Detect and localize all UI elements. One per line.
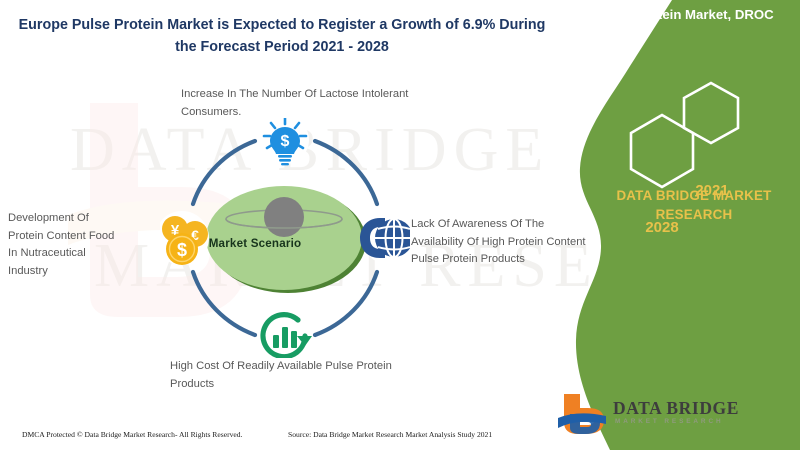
brand-logo-mark-icon <box>556 392 608 438</box>
svg-text:$: $ <box>177 240 187 260</box>
svg-text:$: $ <box>281 133 290 150</box>
bar-chart-refresh-icon <box>259 310 312 358</box>
hexagon-group <box>631 83 738 187</box>
center-label: Market Scenario <box>190 237 320 250</box>
footer-source-note: Source: Data Bridge Market Research Mark… <box>288 430 492 439</box>
brand-logo-text: DATA BRIDGE <box>613 398 739 419</box>
node-label-left: Development Of Protein Content Food In N… <box>8 210 126 280</box>
hexagon-2021-shape <box>684 83 738 143</box>
company-name: DATA BRIDGE MARKET RESEARCH <box>592 186 796 224</box>
page-title: Europe Pulse Protein Market is Expected … <box>18 14 546 58</box>
brand-logo-subtext: MARKET RESEARCH <box>615 418 723 425</box>
globe-phone-icon <box>360 212 410 264</box>
infographic-slide: DATA BRIDGE MARKET RESEARCH 2021 2028 Eu… <box>0 0 800 450</box>
footer-dmca-notice: DMCA Protected © Data Bridge Market Rese… <box>22 430 242 439</box>
node-label-bottom: High Cost Of Readily Available Pulse Pro… <box>170 358 428 393</box>
node-label-top: Increase In The Number Of Lactose Intole… <box>181 86 451 121</box>
panel-title: Europe Pulse Protein Market, DROC <box>548 6 796 24</box>
hexagon-2028-shape <box>631 115 693 187</box>
brand-logo: DATA BRIDGE MARKET RESEARCH <box>556 392 608 443</box>
lightbulb-dollar-icon: $ <box>261 118 309 165</box>
node-label-right: Lack Of Awareness Of The Availability Of… <box>411 216 597 269</box>
